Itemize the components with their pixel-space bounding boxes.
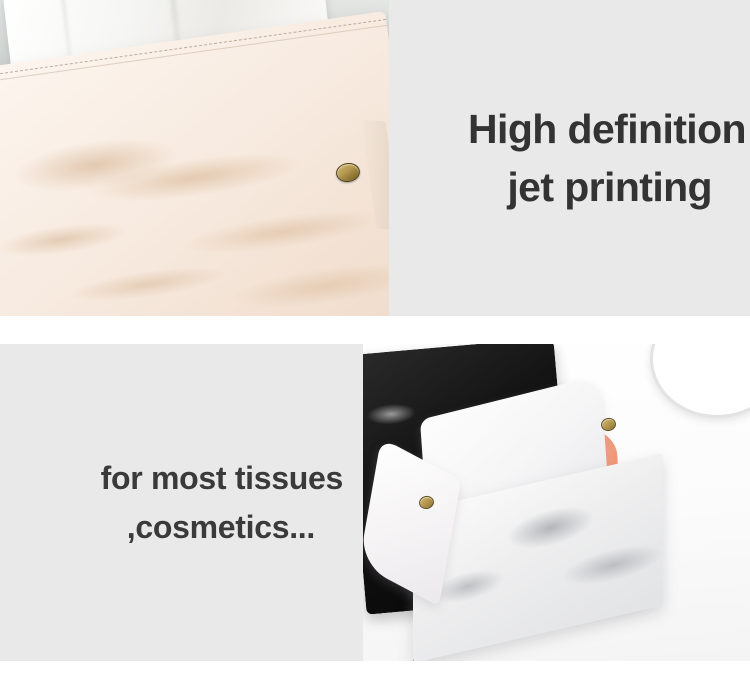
headline-line-1: High definition <box>468 100 746 158</box>
feature-row-top: High definition jet printing <box>0 0 750 316</box>
bottom-white-margin <box>0 661 750 689</box>
product-photo-marble-pouch <box>0 0 389 316</box>
blush-marble-pouch <box>0 11 389 316</box>
subheadline-line-1: for most tissues <box>101 454 343 503</box>
subheadline-line-2: ,cosmetics... <box>127 503 343 552</box>
subheadline-panel: for most tissues ,cosmetics... <box>0 344 363 661</box>
headline-panel: High definition jet printing <box>389 0 750 316</box>
product-feature-banner: High definition jet printing for most ti… <box>0 0 750 689</box>
product-photo-marble-box <box>363 344 750 661</box>
headline-line-2: jet printing <box>507 158 746 216</box>
row-divider-gap <box>0 316 750 344</box>
marble-tissue-box <box>405 402 695 634</box>
feature-row-bottom: for most tissues ,cosmetics... <box>0 344 750 661</box>
